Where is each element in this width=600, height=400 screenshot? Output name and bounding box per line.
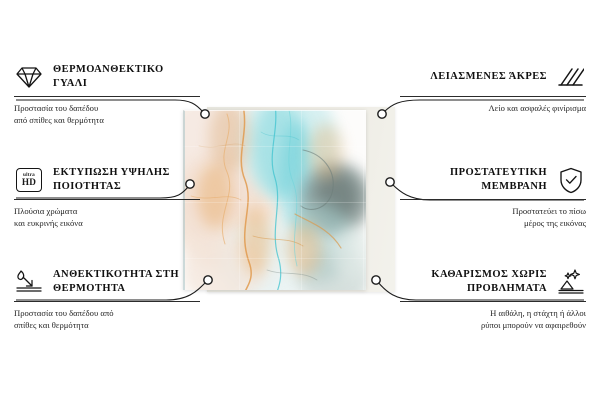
feature-heat-resistant-glass: ΘΕΡΜΟΑΝΘΕΚΤΙΚΟ ΓΥΑΛΙ Προστασία του δαπέδ… [14, 62, 200, 127]
product-glass-panel [183, 110, 366, 290]
feature-high-quality-print: ultra HD ΕΚΤΥΠΩΣΗ ΥΨΗΛΗΣ ΠΟΙΟΤΗΤΑΣ Πλούσ… [14, 165, 200, 230]
product-image [183, 110, 395, 290]
infographic-root: ΘΕΡΜΟΑΝΘΕΚΤΙΚΟ ΓΥΑΛΙ Προστασία του δαπέδ… [0, 0, 600, 400]
shield-check-icon [556, 165, 586, 195]
heat-resistance-icon [14, 267, 44, 297]
feature-title: ΛΕΙΑΣΜΕΝΕΣ ΆΚΡΕΣ [430, 70, 547, 84]
feature-title: ΕΚΤΥΠΩΣΗ ΥΨΗΛΗΣ ΠΟΙΟΤΗΤΑΣ [53, 166, 200, 194]
divider [400, 199, 586, 200]
feature-title: ΠΡΟΣΤΑΤΕΥΤΙΚΗ ΜΕΜΒΡΑΝΗ [400, 166, 547, 194]
diamond-icon [14, 62, 44, 92]
feature-title: ΘΕΡΜΟΑΝΘΕΚΤΙΚΟ ΓΥΑΛΙ [53, 63, 200, 91]
divider [14, 96, 200, 97]
divider [14, 301, 200, 302]
feature-description: Προστασία του δαπέδουαπό σπίθες και θερμ… [14, 102, 200, 127]
feature-protective-film: ΠΡΟΣΤΑΤΕΥΤΙΚΗ ΜΕΜΒΡΑΝΗ Προστατεύει το πί… [400, 165, 586, 230]
polished-edges-icon [556, 62, 586, 92]
marble-veins [183, 110, 366, 290]
divider [400, 301, 586, 302]
feature-title: ΚΑΘΑΡΙΣΜΟΣ ΧΩΡΙΣ ΠΡΟΒΛΗΜΑΤΑ [400, 268, 547, 296]
ultra-hd-icon: ultra HD [14, 165, 44, 195]
feature-easy-cleaning: ΚΑΘΑΡΙΣΜΟΣ ΧΩΡΙΣ ΠΡΟΒΛΗΜΑΤΑ Η αιθάλη, η … [400, 267, 586, 332]
feature-description: Προστατεύει το πίσωμέρος της εικόνας [400, 205, 586, 230]
hd-label: HD [22, 178, 36, 187]
feature-description: Λείο και ασφαλές φινίρισμα [400, 102, 586, 114]
easy-clean-icon [556, 267, 586, 297]
feature-polished-edges: ΛΕΙΑΣΜΕΝΕΣ ΆΚΡΕΣ Λείο και ασφαλές φινίρι… [400, 62, 586, 114]
feature-description: Πλούσια χρώματακαι ευκρινής εικόνα [14, 205, 200, 230]
divider [400, 96, 586, 97]
divider [14, 199, 200, 200]
feature-description: Η αιθάλη, η στάχτη ή άλλοιρύποι μπορούν … [400, 307, 586, 332]
feature-heat-resistance: ΑΝΘΕΚΤΙΚΟΤΗΤΑ ΣΤΗ ΘΕΡΜΟΤΗΤΑ Προστασία το… [14, 267, 200, 332]
feature-title: ΑΝΘΕΚΤΙΚΟΤΗΤΑ ΣΤΗ ΘΕΡΜΟΤΗΤΑ [53, 268, 200, 296]
feature-description: Προστασία του δαπέδου απόσπίθες και θερμ… [14, 307, 200, 332]
